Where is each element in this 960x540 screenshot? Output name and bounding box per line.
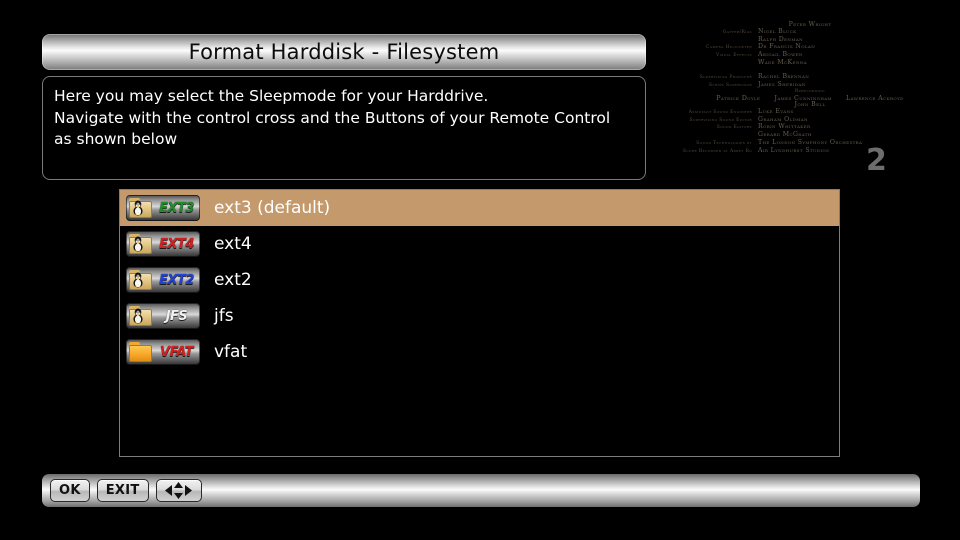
filesystem-badge-text: EXT3: [153, 195, 200, 221]
window-title-bar: Format Harddisk - Filesystem: [42, 34, 646, 70]
credits-role: Score Recorded at Abbey Rd: [660, 150, 752, 155]
vfat-folder-icon: VFAT: [126, 339, 200, 365]
credits-name: Dr Francis Nolan: [758, 44, 960, 51]
credits-name: Abigail Bowen: [758, 52, 960, 59]
filesystem-row-jfs[interactable]: JFSjfs: [120, 298, 839, 334]
credits-name: Robin Whittaker: [758, 124, 960, 131]
ok-button[interactable]: OK: [50, 479, 90, 502]
tux-penguin-icon: [132, 200, 144, 216]
channel-logo: 2: [866, 146, 887, 176]
credits-name: Graham Oldman: [758, 117, 960, 124]
credits-name: James Sheridan: [758, 82, 960, 89]
filesystem-row-ext2[interactable]: EXT2ext2: [120, 262, 839, 298]
credits-name: The London Symphony Orchestra: [758, 140, 960, 147]
control-cross-icon: [165, 482, 192, 499]
credits-row: Supervising ProducerRachel Brennan: [660, 74, 960, 81]
credits-row: Sound Technologies byThe London Symphony…: [660, 140, 960, 147]
filesystem-badge-text: EXT4: [153, 231, 200, 257]
credits-role: Assistant Sound Engineer: [660, 111, 752, 116]
tv-screen: Peter WrightGaffer/RigsNigel BluckRalph …: [0, 0, 960, 540]
credits-row: Assistant Sound EngineerLuke Evans: [660, 109, 960, 116]
filesystem-badge-text: JFS: [153, 303, 200, 329]
credits-role: Sound Editors: [660, 126, 752, 131]
filesystem-badge-text: EXT2: [153, 267, 200, 293]
credits-row: Gaffer/RigsNigel Bluck: [660, 29, 960, 36]
credits-role: Sound Technologies by: [660, 142, 752, 147]
description-text: Here you may select the Sleepmode for yo…: [54, 86, 634, 151]
tux-penguin-icon: [132, 272, 144, 288]
filesystem-row-label: ext2: [214, 270, 252, 290]
credits-row: Sound EditorsRobin Whittaker: [660, 124, 960, 131]
filesystem-badge-text: VFAT: [153, 339, 200, 365]
filesystem-row-ext4[interactable]: EXT4ext4: [120, 226, 839, 262]
page-title: Format Harddisk - Filesystem: [189, 40, 500, 64]
credits-row: Supervising Sound EditorGraham Oldman: [660, 117, 960, 124]
filesystem-list[interactable]: EXT3ext3 (default)EXT4ext4EXT2ext2JFSjfs…: [119, 189, 840, 457]
credits-name: Luke Evans: [758, 109, 960, 116]
ext3-folder-icon: EXT3: [126, 195, 200, 221]
credits-role: Supervising Producer: [660, 76, 752, 81]
credits-name: John Bell: [660, 102, 960, 109]
credits-name: Wade McKenna: [758, 60, 960, 67]
credits-row: Script SupervisorJames Sheridan: [660, 82, 960, 89]
credits-name: Peter Wright: [660, 22, 960, 29]
filesystem-row-label: ext4: [214, 234, 252, 254]
filesystem-row-label: ext3 (default): [214, 198, 330, 218]
filesystem-row-label: jfs: [214, 306, 234, 326]
filesystem-row-label: vfat: [214, 342, 247, 362]
credits-row: Score Recorded at Abbey RdAir Lyndhurst …: [660, 148, 960, 155]
credits-role: Gaffer/Rigs: [660, 31, 752, 36]
credits-row: Visual EffectsAbigail Bowen: [660, 52, 960, 59]
filesystem-row-vfat[interactable]: VFATvfat: [120, 334, 839, 370]
credits-name: Nigel Bluck: [758, 29, 960, 36]
credits-role: Script Supervisor: [660, 84, 752, 89]
ext4-folder-icon: EXT4: [126, 231, 200, 257]
end-credits-text: Peter WrightGaffer/RigsNigel BluckRalph …: [660, 22, 960, 187]
credits-row: Ralph Denman: [660, 37, 960, 44]
credits-name: Lawrence Ackroyd: [846, 95, 904, 102]
credits-row: Wade McKenna: [660, 60, 960, 67]
exit-button[interactable]: EXIT: [97, 479, 149, 502]
ext2-folder-icon: EXT2: [126, 267, 200, 293]
credits-spacer: [660, 67, 960, 74]
button-bar: OK EXIT: [42, 474, 920, 507]
credits-name: Gerard McGrath: [758, 132, 960, 139]
credits-role: Supervising Sound Editor: [660, 119, 752, 124]
jfs-folder-icon: JFS: [126, 303, 200, 329]
credits-name: Patrick Doyle: [716, 95, 760, 102]
credits-name: Rachel Brennan: [758, 74, 960, 81]
tux-penguin-icon: [132, 308, 144, 324]
credits-row: Camera HelicopterDr Francis Nolan: [660, 44, 960, 51]
control-cross-button[interactable]: [156, 479, 202, 502]
credits-name: Air Lyndhurst Studios: [758, 148, 960, 155]
folder-shape: [129, 342, 152, 362]
description-panel: Here you may select the Sleepmode for yo…: [42, 76, 646, 180]
credits-role: Camera Helicopter: [660, 46, 752, 51]
credits-name: Ralph Denman: [758, 37, 960, 44]
tux-penguin-icon: [132, 236, 144, 252]
credits-role: Visual Effects: [660, 54, 752, 59]
filesystem-row-ext3[interactable]: EXT3ext3 (default): [120, 190, 839, 226]
credits-row: Gerard McGrath: [660, 132, 960, 139]
